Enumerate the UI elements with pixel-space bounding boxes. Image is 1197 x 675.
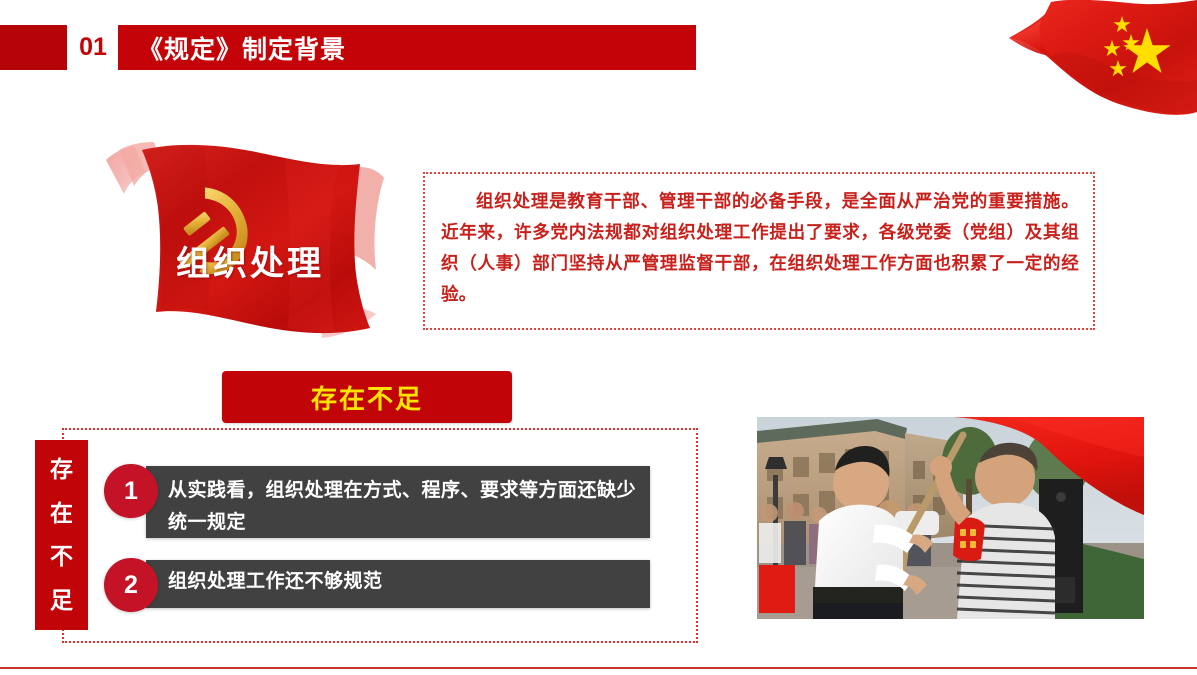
section-number: 01	[70, 25, 116, 70]
vertical-label-bar: 存 在 不 足	[35, 440, 88, 630]
vertical-char-1: 存	[50, 458, 73, 481]
list-item-text: 从实践看，组织处理在方式、程序、要求等方面还缺少统一规定	[146, 466, 650, 538]
background-paragraph-text: 组织处理是教育干部、管理干部的必备手段，是全面从严治党的重要措施。近年来，许多党…	[441, 186, 1079, 310]
page-title: 《规定》制定背景	[118, 30, 346, 66]
list-item-number-badge: 1	[104, 464, 158, 518]
vertical-char-3: 不	[50, 545, 73, 568]
list-item: 2 组织处理工作还不够规范	[104, 558, 650, 612]
slide-canvas: 01 《规定》制定背景	[0, 0, 1197, 675]
vertical-char-2: 在	[50, 502, 73, 525]
shortcomings-banner: 存在不足	[222, 371, 512, 423]
list-item-text: 组织处理工作还不够规范	[146, 560, 650, 608]
header-title-bar: 《规定》制定背景	[118, 25, 696, 70]
bottom-divider	[0, 667, 1197, 669]
list-item: 1 从实践看，组织处理在方式、程序、要求等方面还缺少统一规定	[104, 464, 650, 538]
vertical-char-4: 足	[50, 589, 73, 612]
header-accent-block	[0, 25, 67, 70]
ceremony-photo	[757, 417, 1144, 619]
china-national-flag-icon	[979, 0, 1197, 130]
list-item-number-badge: 2	[104, 558, 158, 612]
background-paragraph-box: 组织处理是教育干部、管理干部的必备手段，是全面从严治党的重要措施。近年来，许多党…	[423, 172, 1095, 330]
shortcomings-banner-label: 存在不足	[311, 379, 423, 416]
party-flag-graphic	[84, 142, 402, 347]
